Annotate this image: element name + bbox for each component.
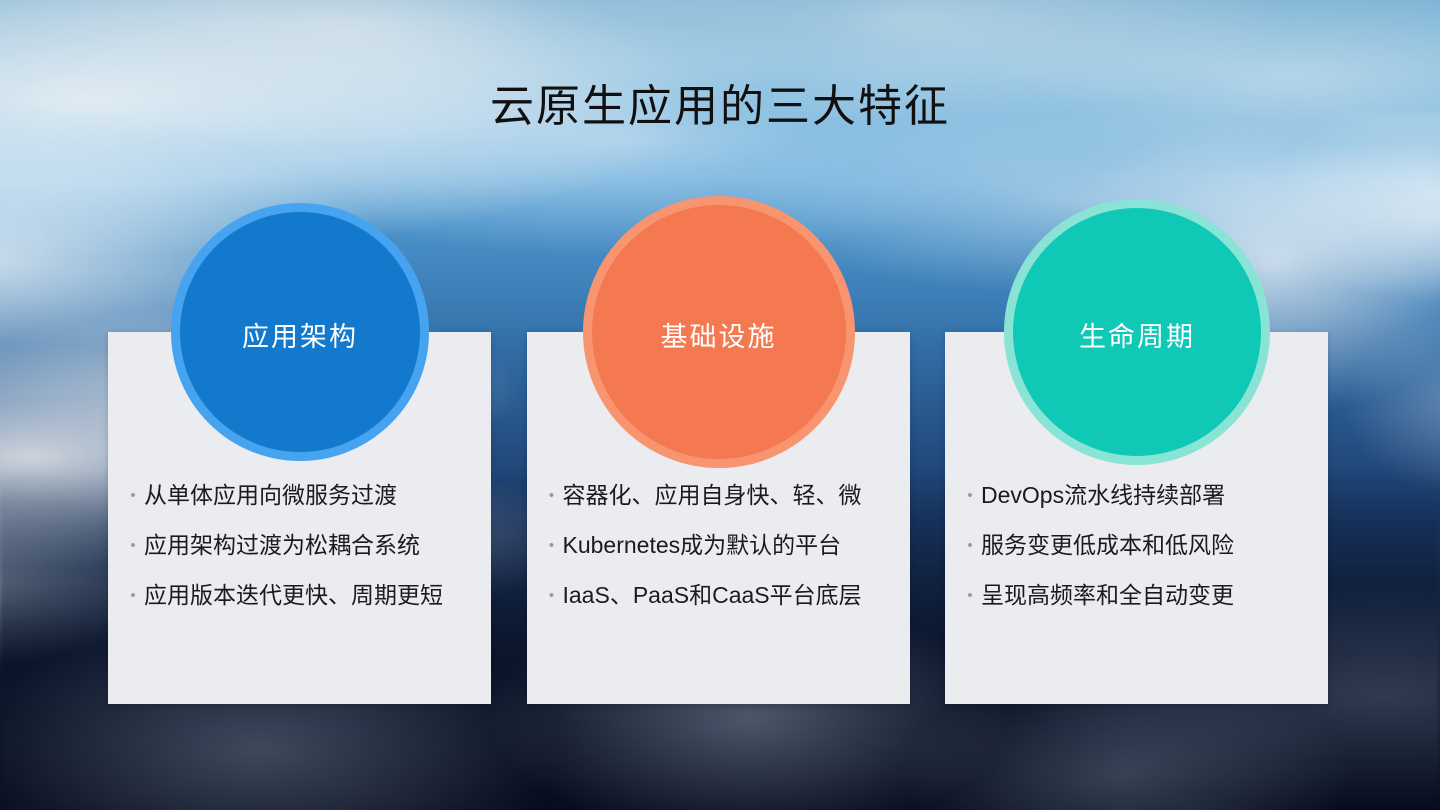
bullet-dot-icon: • bbox=[541, 488, 563, 503]
feature-column-application-architecture: • 从单体应用向微服务过渡 • 应用架构过渡为松耦合系统 • 应用版本迭代更快、… bbox=[108, 332, 491, 704]
feature-circle-infrastructure: 基础设施 bbox=[583, 196, 855, 468]
list-item: • 应用架构过渡为松耦合系统 bbox=[122, 534, 477, 557]
bullet-text: 容器化、应用自身快、轻、微 bbox=[563, 484, 896, 507]
feature-column-infrastructure: • 容器化、应用自身快、轻、微 • Kubernetes成为默认的平台 • Ia… bbox=[527, 332, 910, 704]
bullet-text: 服务变更低成本和低风险 bbox=[981, 534, 1314, 557]
list-item: • DevOps流水线持续部署 bbox=[959, 484, 1314, 507]
list-item: • 应用版本迭代更快、周期更短 bbox=[122, 584, 477, 607]
bullet-text: 呈现高频率和全自动变更 bbox=[981, 584, 1314, 607]
slide: 云原生应用的三大特征 • 从单体应用向微服务过渡 • 应用架构过渡为松耦合系统 … bbox=[0, 0, 1440, 810]
bullet-dot-icon: • bbox=[959, 538, 981, 553]
bullet-dot-icon: • bbox=[959, 588, 981, 603]
feature-columns: • 从单体应用向微服务过渡 • 应用架构过渡为松耦合系统 • 应用版本迭代更快、… bbox=[108, 332, 1328, 704]
feature-circle-lifecycle: 生命周期 bbox=[1004, 199, 1270, 465]
list-item: • 从单体应用向微服务过渡 bbox=[122, 484, 477, 507]
slide-title: 云原生应用的三大特征 bbox=[0, 81, 1440, 134]
bullet-text: 从单体应用向微服务过渡 bbox=[144, 484, 477, 507]
list-item: • 容器化、应用自身快、轻、微 bbox=[541, 484, 896, 507]
bullet-dot-icon: • bbox=[122, 588, 144, 603]
list-item: • Kubernetes成为默认的平台 bbox=[541, 534, 896, 557]
bullet-dot-icon: • bbox=[122, 488, 144, 503]
list-item: • 呈现高频率和全自动变更 bbox=[959, 584, 1314, 607]
feature-bullet-list: • 从单体应用向微服务过渡 • 应用架构过渡为松耦合系统 • 应用版本迭代更快、… bbox=[108, 484, 491, 634]
bullet-text: DevOps流水线持续部署 bbox=[981, 484, 1314, 507]
bullet-dot-icon: • bbox=[541, 588, 563, 603]
feature-bullet-list: • 容器化、应用自身快、轻、微 • Kubernetes成为默认的平台 • Ia… bbox=[527, 484, 910, 634]
bullet-text: 应用架构过渡为松耦合系统 bbox=[144, 534, 477, 557]
list-item: • 服务变更低成本和低风险 bbox=[959, 534, 1314, 557]
bullet-text: IaaS、PaaS和CaaS平台底层 bbox=[563, 584, 896, 607]
bullet-dot-icon: • bbox=[541, 538, 563, 553]
feature-circle-application-architecture: 应用架构 bbox=[171, 203, 429, 461]
bullet-dot-icon: • bbox=[122, 538, 144, 553]
bullet-text: 应用版本迭代更快、周期更短 bbox=[144, 584, 477, 607]
circle-label: 基础设施 bbox=[661, 315, 777, 354]
circle-label: 应用架构 bbox=[242, 315, 358, 354]
circle-label: 生命周期 bbox=[1079, 315, 1195, 354]
list-item: • IaaS、PaaS和CaaS平台底层 bbox=[541, 584, 896, 607]
feature-bullet-list: • DevOps流水线持续部署 • 服务变更低成本和低风险 • 呈现高频率和全自… bbox=[945, 484, 1328, 634]
bullet-dot-icon: • bbox=[959, 488, 981, 503]
feature-column-lifecycle: • DevOps流水线持续部署 • 服务变更低成本和低风险 • 呈现高频率和全自… bbox=[945, 332, 1328, 704]
bullet-text: Kubernetes成为默认的平台 bbox=[563, 534, 896, 557]
